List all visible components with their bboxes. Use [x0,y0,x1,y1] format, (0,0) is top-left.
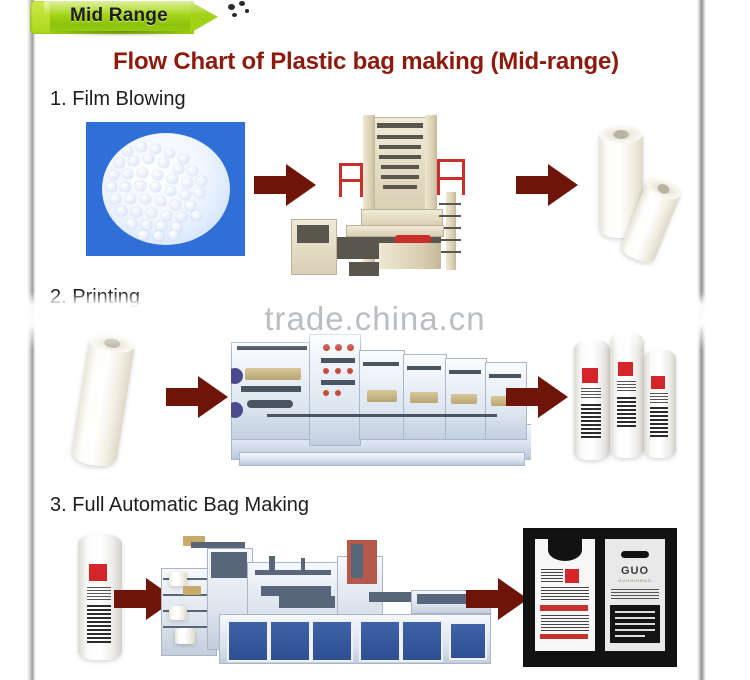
banner-label: Mid Range [70,5,200,27]
speck-decor-4 [245,9,249,13]
watermark-text: trade.china.cn [0,300,750,338]
step-1-label: 1. Film Blowing [50,88,186,111]
step-3-row: GUO GUOHUIBAO [36,522,696,677]
step-2-arrow-2 [506,376,568,418]
finished-plastic-bags-image: GUO GUOHUIBAO [523,528,677,667]
plain-film-rolls-image [581,116,721,266]
speck-decor-2 [239,1,245,6]
page-title: Flow Chart of Plastic bag making (Mid-ra… [36,48,696,76]
film-roll-input [70,331,136,469]
bag-brand-text: GUO [605,565,665,577]
step-3-label: 3. Full Automatic Bag Making [50,494,309,517]
printed-roll-3 [644,350,676,458]
printed-roll-2 [610,332,644,458]
gravure-printing-machine-image [231,328,531,478]
bag-brand-subtext: GUOHUIBAO [605,578,665,583]
step-1-arrow-2 [516,164,578,206]
mid-range-banner: Mid Range [30,1,218,34]
film-blowing-machine-image [291,87,491,287]
speck-decor-3 [232,13,237,17]
step-2-arrow-1 [166,376,228,418]
die-cut-handle-bag: GUO GUOHUIBAO [605,539,665,651]
speck-decor-1 [228,4,235,10]
flow-chart-page: Mid Range Flow Chart of Plastic bag maki… [0,0,750,680]
watermark-overlay: trade.china.cn [0,292,750,350]
printed-roll-1 [574,340,610,460]
vest-bag [535,539,595,651]
step-1-row [36,112,696,282]
automatic-bag-making-machine-image [161,526,491,666]
plastic-resin-pellets-image [86,122,245,256]
banner-shadow [46,31,196,37]
step-3-arrow-2 [466,578,528,620]
